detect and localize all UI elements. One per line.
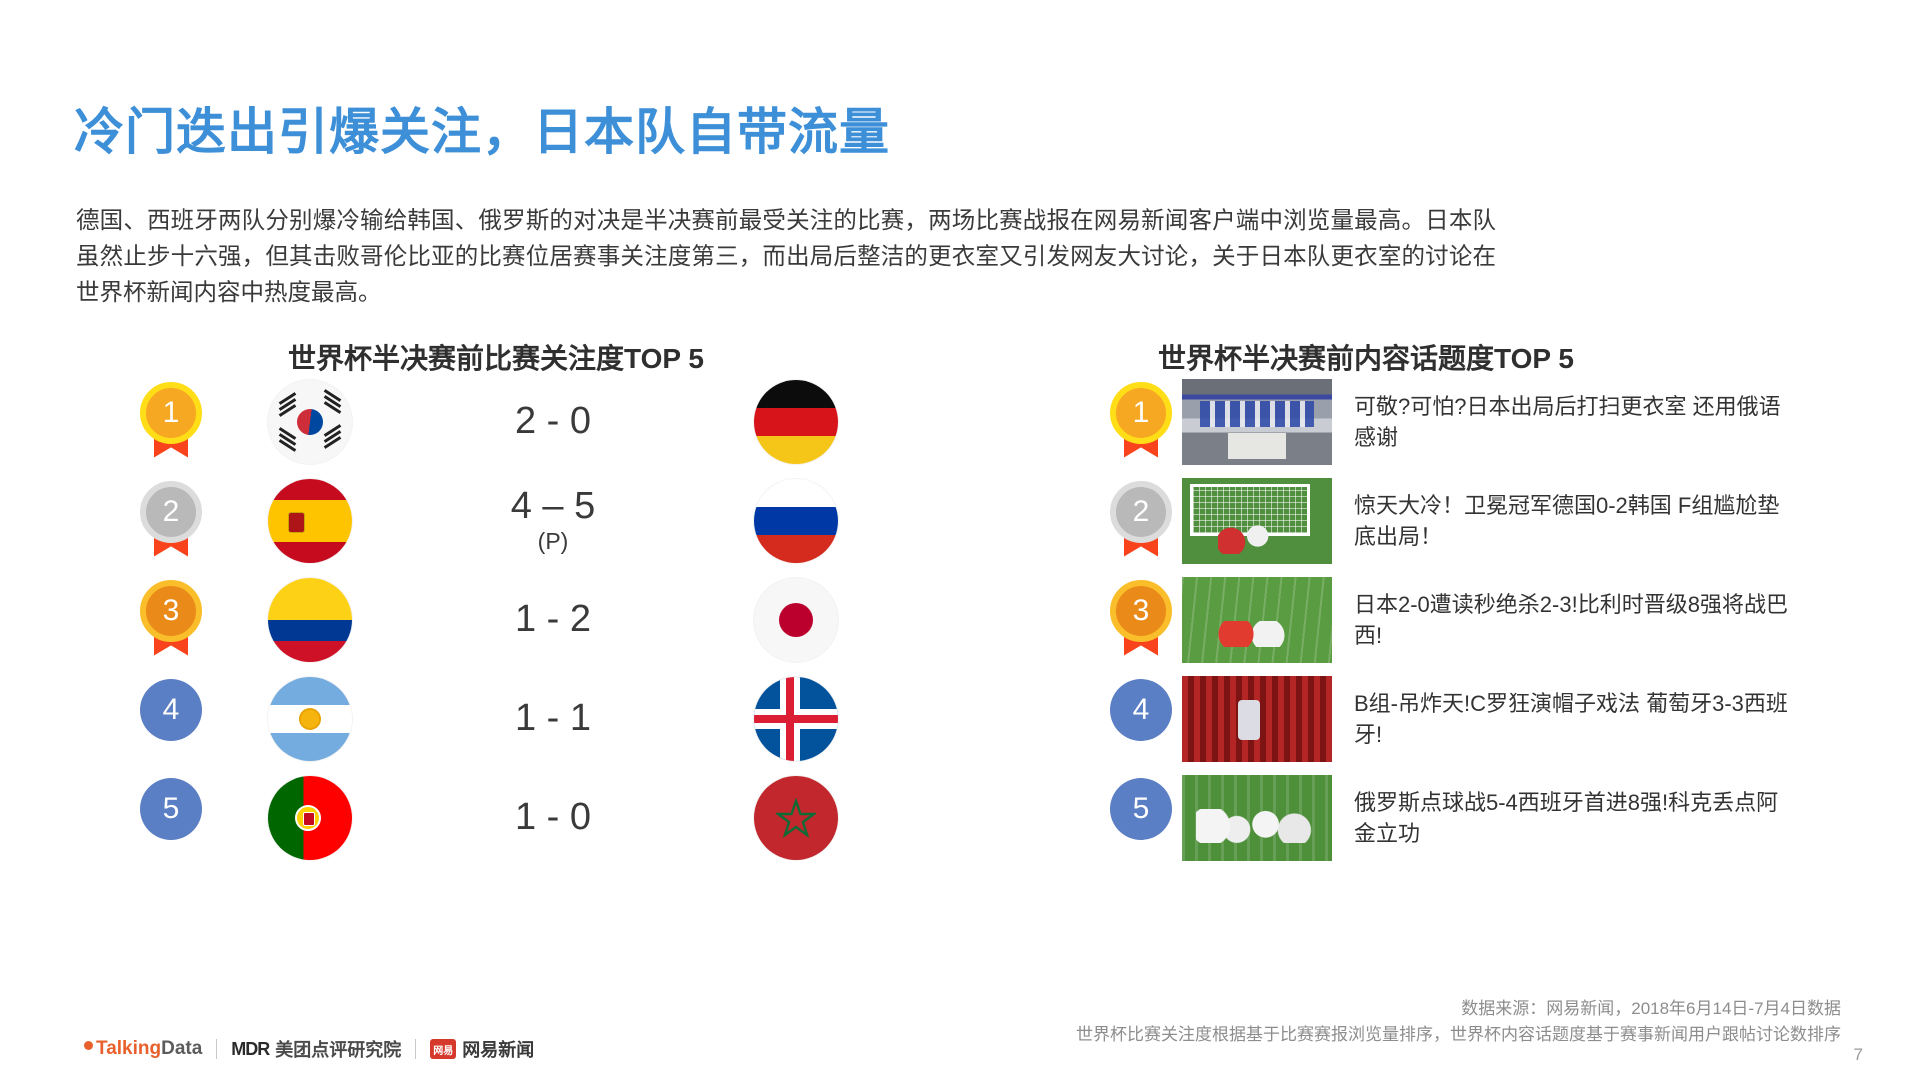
iceland-flag (754, 677, 838, 761)
rank-number: 3 (1110, 580, 1172, 642)
match-attention-list: 1 2 - 0 2 4 (140, 372, 900, 867)
source-note: 数据来源：网易新闻，2018年6月14日-7月4日数据 世界杯比赛关注度根据基于… (1076, 996, 1841, 1048)
score-value: 1 - 1 (515, 697, 591, 739)
score-value: 1 - 2 (515, 598, 591, 640)
match-score: 2 - 0 (352, 402, 754, 442)
content-topic-list: 1 可敬?可怕?日本出局后打扫更衣室 还用俄语感谢 2 惊天大冷！卫冕冠军德国0… (1110, 372, 1840, 867)
source-line-2: 世界杯比赛关注度根据基于比赛赛报浏览量排序，世界杯内容话题度基于赛事新闻用户跟帖… (1076, 1022, 1841, 1048)
meituan-research-logo: MDR 美团点评研究院 (231, 1036, 401, 1062)
score-value: 1 - 0 (515, 796, 591, 838)
divider (216, 1039, 217, 1059)
rank-number: 2 (1110, 481, 1172, 543)
list-item[interactable]: 4 B组-吊炸天!C罗狂演帽子戏法 葡萄牙3-3西班牙! (1110, 669, 1840, 768)
match-score: 4 – 5 (P) (352, 487, 754, 553)
rank-number: 1 (1110, 382, 1172, 444)
south-korea-flag (268, 380, 352, 464)
score-value: 2 - 0 (515, 400, 591, 442)
argentina-flag (268, 677, 352, 761)
pentagram-icon (776, 798, 816, 838)
spain-crest-icon (288, 512, 305, 533)
netease-mark: 网易 (430, 1039, 456, 1059)
rank-badge-5: 5 (1110, 778, 1172, 858)
rank-badge-3: 3 (1110, 580, 1172, 660)
rank-number: 3 (140, 580, 202, 642)
talkingdata-logo: Talking Data (84, 1038, 202, 1060)
table-row: 4 1 - 1 (140, 669, 900, 768)
article-title[interactable]: 日本2-0遭读秒绝杀2-3!比利时晋级8强将战巴西! (1354, 589, 1794, 651)
spain-flag (268, 479, 352, 563)
netease-news-logo: 网易 网易新闻 (430, 1036, 534, 1062)
rank-number: 4 (140, 679, 202, 741)
rank-badge-2: 2 (1110, 481, 1172, 561)
sun-of-may-icon (301, 710, 319, 728)
rank-number: 5 (140, 778, 202, 840)
talkingdata-rest: Data (161, 1038, 202, 1060)
rank-number: 2 (140, 481, 202, 543)
page-title: 冷门迭出引爆关注，日本队自带流量 (74, 92, 890, 164)
players-on-pitch-photo (1182, 577, 1332, 663)
article-title[interactable]: 可敬?可怕?日本出局后打扫更衣室 还用俄语感谢 (1354, 391, 1794, 453)
footer-logos: Talking Data MDR 美团点评研究院 网易 网易新闻 (84, 1036, 534, 1062)
celebration-photo (1182, 775, 1332, 861)
match-score: 1 - 1 (352, 699, 754, 739)
article-title[interactable]: 俄罗斯点球战5-4西班牙首进8强!科克丢点阿金立功 (1354, 787, 1794, 849)
table-row: 3 1 - 2 (140, 570, 900, 669)
mdr-mark: MDR (231, 1039, 269, 1060)
rank-badge-3: 3 (140, 580, 202, 660)
score-value: 4 – 5 (511, 485, 596, 527)
penalty-note: (P) (352, 529, 754, 553)
list-item[interactable]: 3 日本2-0遭读秒绝杀2-3!比利时晋级8强将战巴西! (1110, 570, 1840, 669)
source-line-1: 数据来源：网易新闻，2018年6月14日-7月4日数据 (1076, 996, 1841, 1022)
rank-number: 1 (140, 382, 202, 444)
rank-badge-4: 4 (1110, 679, 1172, 759)
germany-flag (754, 380, 838, 464)
list-item[interactable]: 5 俄罗斯点球战5-4西班牙首进8强!科克丢点阿金立功 (1110, 768, 1840, 867)
list-item[interactable]: 2 惊天大冷！卫冕冠军德国0-2韩国 F组尴尬垫底出局！ (1110, 471, 1840, 570)
dot-icon (84, 1041, 93, 1050)
portugal-flag (268, 776, 352, 860)
rank-number: 4 (1110, 679, 1172, 741)
locker-room-photo (1182, 379, 1332, 465)
japan-flag (754, 578, 838, 662)
rank-badge-5: 5 (140, 778, 202, 858)
table-row: 1 2 - 0 (140, 372, 900, 471)
rank-badge-1: 1 (140, 382, 202, 462)
rising-sun-icon (779, 603, 813, 637)
red-crowd-photo (1182, 676, 1332, 762)
rank-badge-2: 2 (140, 481, 202, 561)
list-item[interactable]: 1 可敬?可怕?日本出局后打扫更衣室 还用俄语感谢 (1110, 372, 1840, 471)
match-score: 1 - 2 (352, 600, 754, 640)
table-row: 2 4 – 5 (P) (140, 471, 900, 570)
portugal-crest-icon (295, 805, 321, 831)
rank-number: 5 (1110, 778, 1172, 840)
netease-text: 网易新闻 (462, 1036, 534, 1062)
slide-root: 冷门迭出引爆关注，日本队自带流量 德国、西班牙两队分别爆冷输给韩国、俄罗斯的对决… (0, 0, 1921, 1080)
page-number: 7 (1854, 1045, 1863, 1065)
divider (415, 1039, 416, 1059)
colombia-flag (268, 578, 352, 662)
match-score: 1 - 0 (352, 798, 754, 838)
table-row: 5 1 - 0 (140, 768, 900, 867)
rank-badge-4: 4 (140, 679, 202, 759)
russia-flag (754, 479, 838, 563)
lede-paragraph: 德国、西班牙两队分别爆冷输给韩国、俄罗斯的对决是半决赛前最受关注的比赛，两场比赛… (76, 202, 1496, 310)
goal-save-photo (1182, 478, 1332, 564)
article-title[interactable]: B组-吊炸天!C罗狂演帽子戏法 葡萄牙3-3西班牙! (1354, 688, 1794, 750)
morocco-flag (754, 776, 838, 860)
rank-badge-1: 1 (1110, 382, 1172, 462)
talkingdata-brand: Talking (96, 1038, 161, 1060)
mdr-text: 美团点评研究院 (275, 1036, 401, 1062)
article-title[interactable]: 惊天大冷！卫冕冠军德国0-2韩国 F组尴尬垫底出局！ (1354, 490, 1794, 552)
